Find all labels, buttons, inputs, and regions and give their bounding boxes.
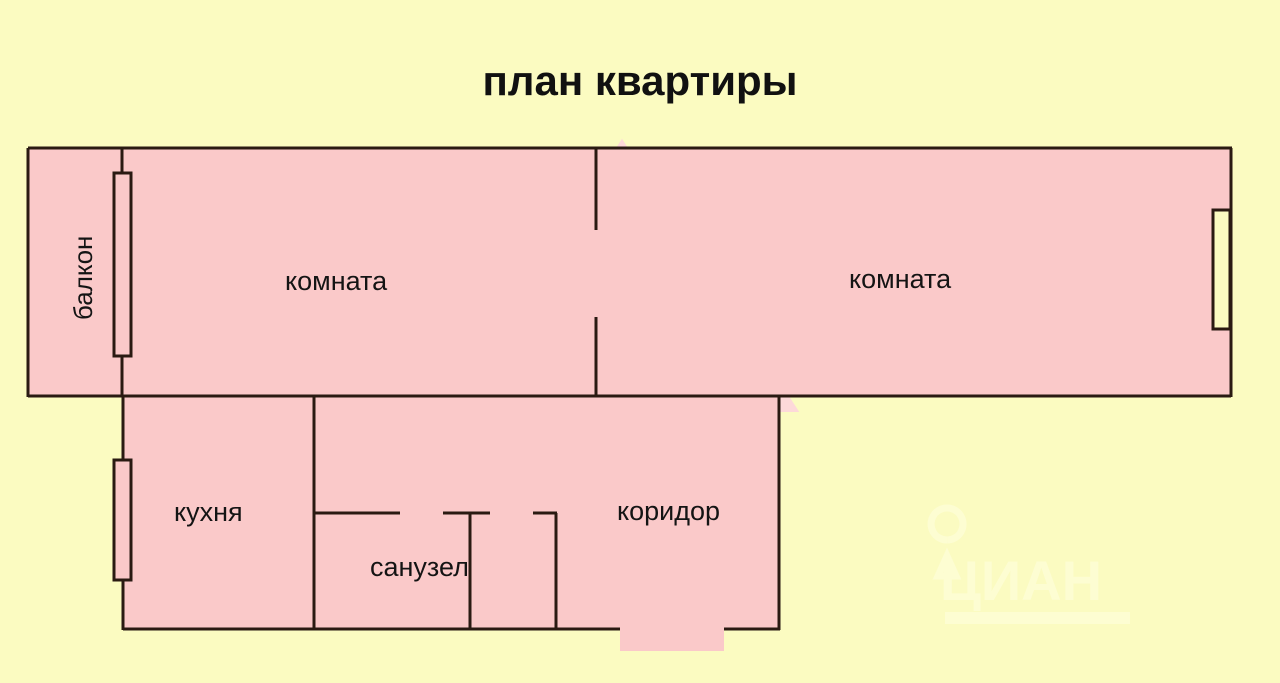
window-balcony-left (114, 173, 131, 356)
room-label-komnata-right: комната (849, 266, 951, 293)
room-label-sanuzel: санузел (370, 554, 469, 581)
room-label-komnata-left: комната (285, 268, 387, 295)
room-label-kuhnya: кухня (174, 499, 243, 526)
floor-plan-drawing: ЦИАН (0, 0, 1280, 683)
window-kitchen-left (114, 460, 131, 580)
watermark-cian: ЦИАН (931, 508, 1130, 624)
entrance-notch (620, 629, 724, 651)
floor-plan-page: план квартиры ЦИАН (0, 0, 1280, 683)
window-right-wall (1213, 210, 1230, 329)
watermark-cian-text: ЦИАН (940, 549, 1102, 612)
upper-block-fill (28, 147, 1232, 397)
room-label-balkon: балкон (70, 236, 96, 320)
room-label-koridor: коридор (617, 498, 720, 525)
